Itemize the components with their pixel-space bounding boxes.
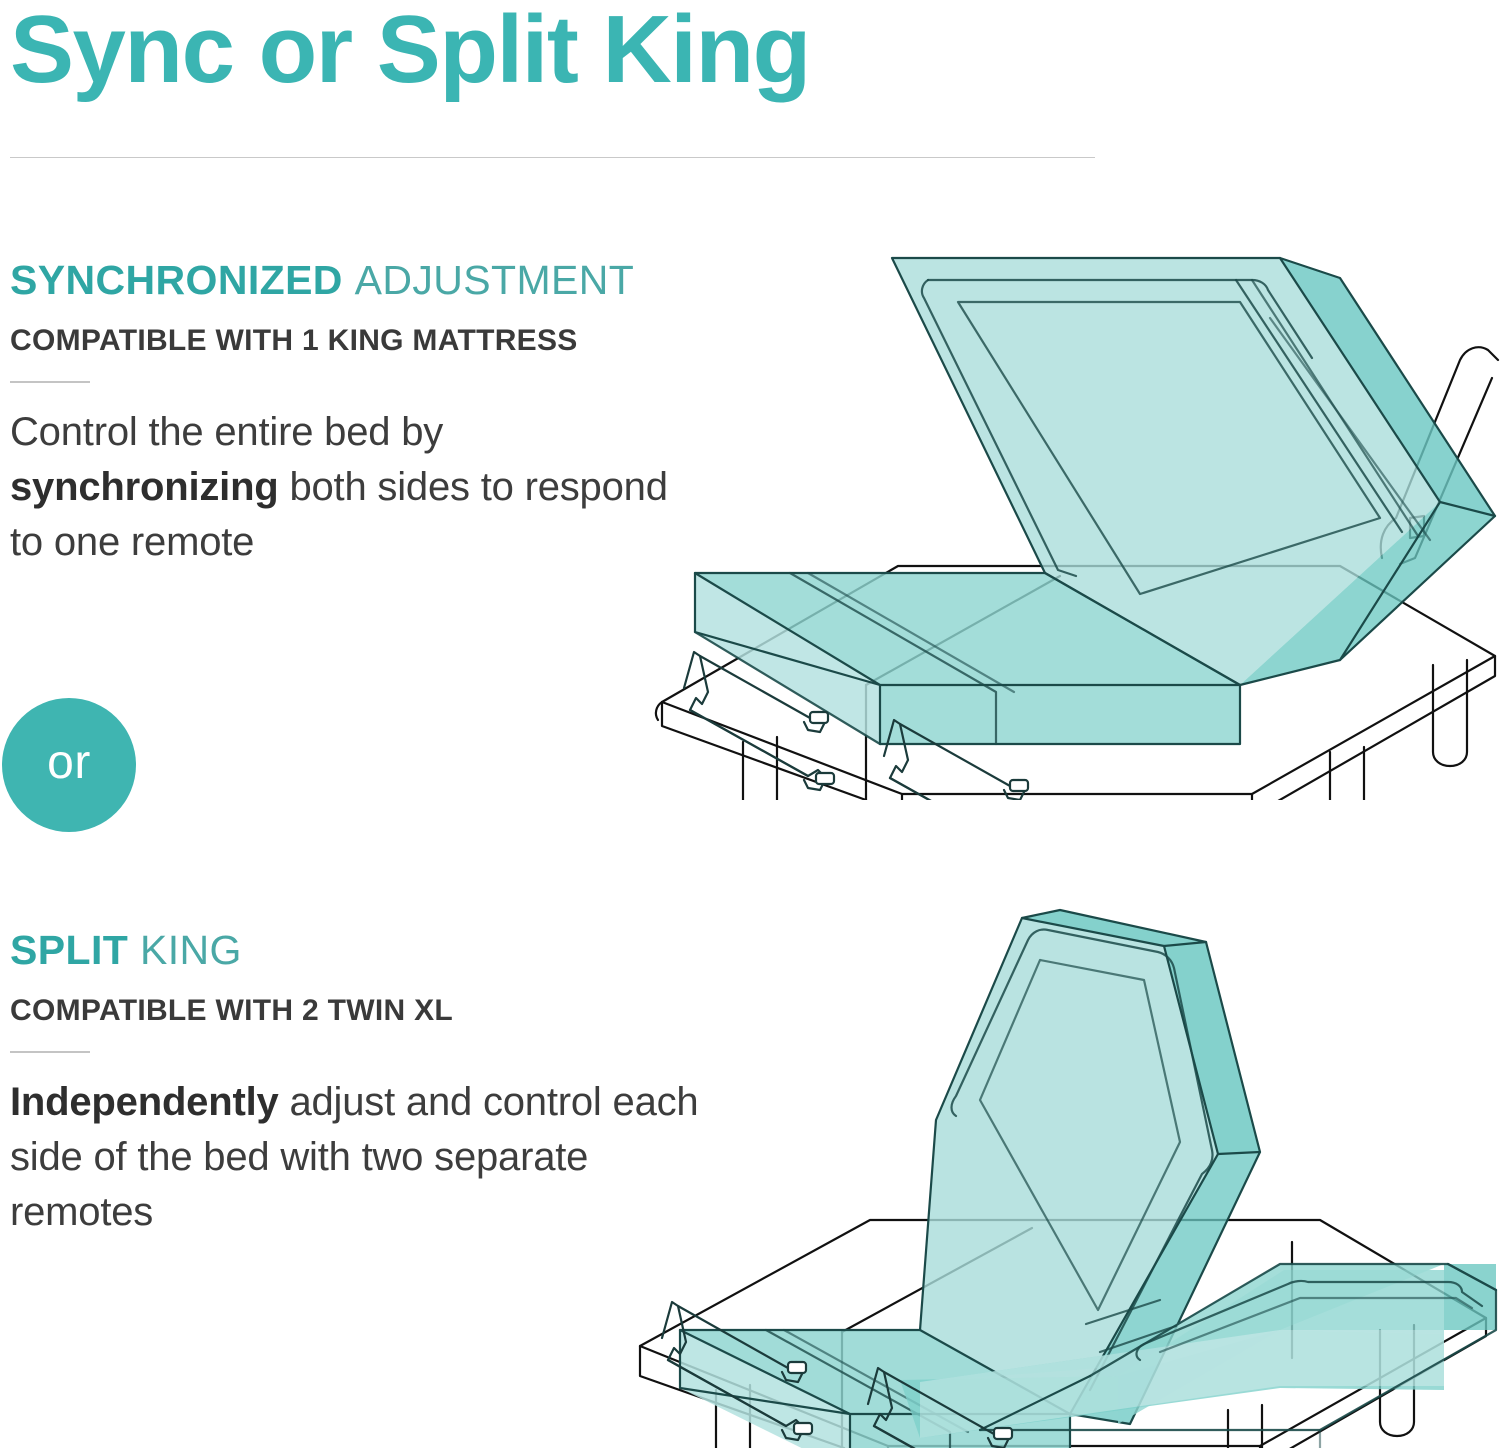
section-short-divider — [10, 381, 90, 383]
adjustable-bed-synced-illustration: .fo { fill:none; stroke:#111; stroke-wid… — [640, 240, 1500, 800]
section-split-king: SPLIT KING COMPATIBLE WITH 2 TWIN XL Ind… — [0, 925, 700, 1240]
adjustable-bed-split-king-illustration: .fo2 { fill:none; stroke:#111; stroke-wi… — [620, 890, 1500, 1448]
section-body-emphasis: Independently — [10, 1080, 279, 1124]
or-badge-label: or — [47, 739, 91, 787]
section-body-emphasis: synchronizing — [10, 465, 279, 509]
section-heading: SYNCHRONIZED ADJUSTMENT — [10, 255, 700, 305]
or-badge: or — [2, 698, 136, 832]
section-heading-strong: SYNCHRONIZED — [10, 257, 343, 303]
header-divider — [10, 157, 1095, 158]
section-subheading: COMPATIBLE WITH 2 TWIN XL — [10, 993, 700, 1029]
page-title: Sync or Split King — [10, 0, 810, 106]
section-body: Independently adjust and control each si… — [10, 1075, 700, 1240]
bed-leg — [1228, 1405, 1262, 1448]
section-heading-light: ADJUSTMENT — [355, 257, 635, 303]
section-synchronized-adjustment: SYNCHRONIZED ADJUSTMENT COMPATIBLE WITH … — [0, 255, 700, 570]
section-body-text-1: Control the entire bed by — [10, 410, 443, 454]
section-subheading: COMPATIBLE WITH 1 KING MATTRESS — [10, 323, 700, 359]
infographic-page: Sync or Split King SYNCHRONIZED ADJUSTME… — [0, 0, 1500, 1448]
section-body: Control the entire bed by synchronizing … — [10, 405, 700, 570]
section-heading-strong: SPLIT — [10, 927, 128, 973]
section-heading-light: KING — [140, 927, 242, 973]
section-short-divider — [10, 1051, 90, 1053]
section-heading: SPLIT KING — [10, 925, 700, 975]
